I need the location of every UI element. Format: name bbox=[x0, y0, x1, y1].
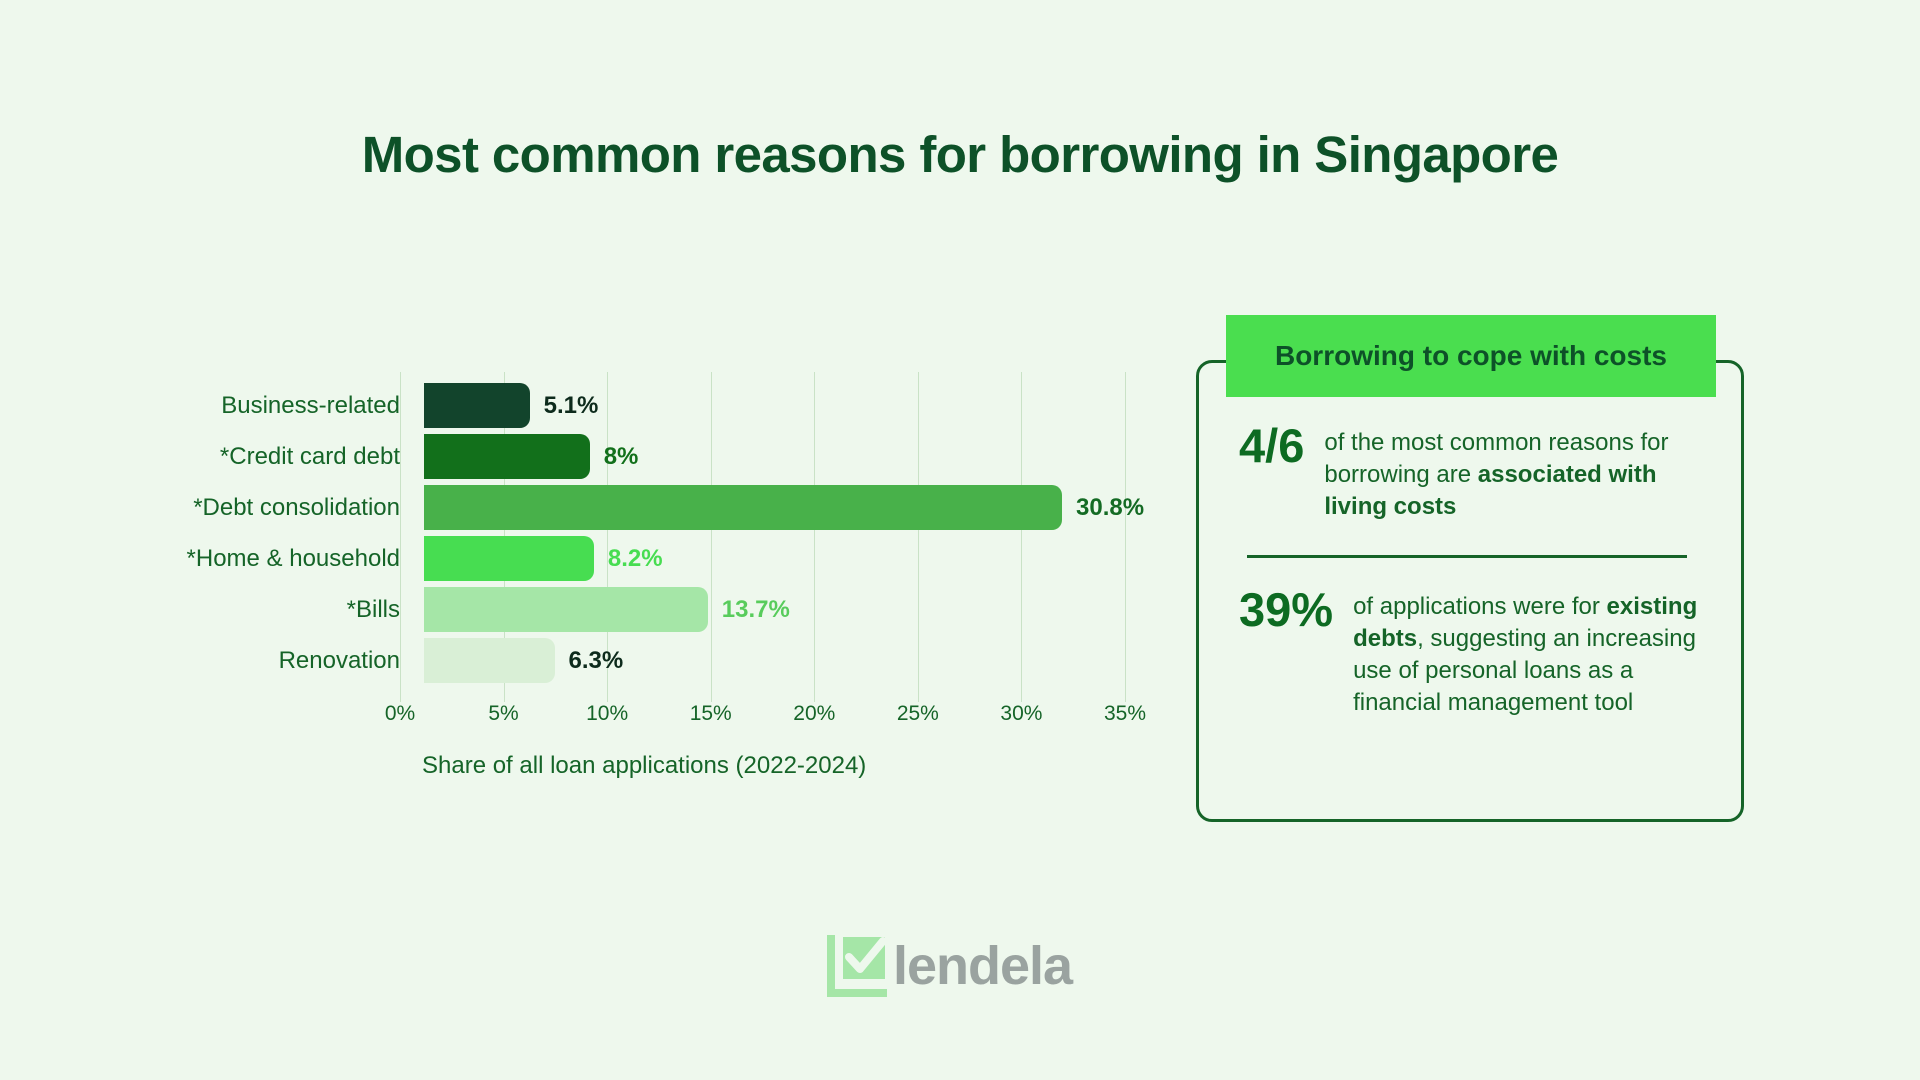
chart-bar-area: 8% bbox=[424, 431, 1149, 482]
chart-x-tick-label: 35% bbox=[1104, 702, 1146, 726]
chart-category-label: *Bills bbox=[160, 596, 424, 624]
chart-bar-value: 5.1% bbox=[544, 392, 599, 420]
lendela-logo: lendela bbox=[825, 935, 1072, 997]
chart-bar bbox=[424, 536, 594, 581]
chart-bar-value: 30.8% bbox=[1076, 494, 1144, 522]
chart-category-label: *Credit card debt bbox=[160, 443, 424, 471]
chart-bar-area: 30.8% bbox=[424, 482, 1149, 533]
chart-category-label: *Home & household bbox=[160, 545, 424, 573]
infographic-page: { "title": "Most common reasons for borr… bbox=[0, 0, 1920, 1080]
chart-category-label: Business-related bbox=[160, 392, 424, 420]
chart-category-label: *Debt consolidation bbox=[160, 494, 424, 522]
chart-x-tick-label: 25% bbox=[897, 702, 939, 726]
page-title: Most common reasons for borrowing in Sin… bbox=[0, 125, 1920, 184]
lendela-wordmark: lendela bbox=[893, 939, 1072, 993]
chart-x-tick-label: 15% bbox=[690, 702, 732, 726]
chart-bar-area: 5.1% bbox=[424, 380, 1149, 431]
stat-2-text-plain: of applications were for bbox=[1353, 593, 1606, 620]
chart-row: *Credit card debt8% bbox=[160, 431, 1170, 482]
chart-x-tick-label: 20% bbox=[793, 702, 835, 726]
chart-x-axis-label: Share of all loan applications (2022-202… bbox=[422, 752, 866, 780]
chart-bar-value: 8% bbox=[604, 443, 639, 471]
chart-bar-value: 8.2% bbox=[608, 545, 663, 573]
chart-x-tick-label: 5% bbox=[488, 702, 518, 726]
chart-bar bbox=[424, 587, 708, 632]
chart-x-tick-label: 10% bbox=[586, 702, 628, 726]
panel-divider bbox=[1247, 555, 1687, 558]
chart-bar bbox=[424, 485, 1062, 530]
chart-bar-area: 8.2% bbox=[424, 533, 1149, 584]
chart-bar bbox=[424, 383, 530, 428]
stat-1-number: 4/6 bbox=[1239, 421, 1304, 470]
stat-block-1: 4/6 of the most common reasons for borro… bbox=[1199, 421, 1747, 523]
lendela-checkbox-icon bbox=[825, 935, 887, 997]
callout-header-text: Borrowing to cope with costs bbox=[1275, 340, 1667, 372]
stat-block-2: 39% of applications were for existing de… bbox=[1199, 585, 1747, 719]
stat-2-number: 39% bbox=[1239, 585, 1333, 634]
chart-row: *Home & household8.2% bbox=[160, 533, 1170, 584]
chart-row: Renovation6.3% bbox=[160, 635, 1170, 686]
chart-x-tick-label: 30% bbox=[1000, 702, 1042, 726]
chart-bar-value: 13.7% bbox=[722, 596, 790, 624]
chart-row: Business-related5.1% bbox=[160, 380, 1170, 431]
callout-header-badge: Borrowing to cope with costs bbox=[1226, 315, 1716, 397]
chart-x-tick-label: 0% bbox=[385, 702, 415, 726]
chart-row: *Debt consolidation30.8% bbox=[160, 482, 1170, 533]
chart-bar-area: 6.3% bbox=[424, 635, 1149, 686]
chart-bar-area: 13.7% bbox=[424, 584, 1149, 635]
chart-category-label: Renovation bbox=[160, 647, 424, 675]
chart-bar bbox=[424, 638, 555, 683]
bar-chart: Business-related5.1%*Credit card debt8%*… bbox=[160, 380, 1170, 800]
chart-bar-value: 6.3% bbox=[569, 647, 624, 675]
chart-rows: Business-related5.1%*Credit card debt8%*… bbox=[160, 380, 1170, 686]
logo-check-svg bbox=[825, 935, 887, 997]
chart-row: *Bills13.7% bbox=[160, 584, 1170, 635]
callout-panel: 4/6 of the most common reasons for borro… bbox=[1196, 360, 1744, 822]
chart-x-axis: 0%5%10%15%20%25%30%35% bbox=[400, 702, 1160, 732]
chart-bar bbox=[424, 434, 590, 479]
stat-1-text: of the most common reasons for borrowing… bbox=[1324, 421, 1713, 523]
stat-2-text: of applications were for existing debts,… bbox=[1353, 585, 1713, 719]
